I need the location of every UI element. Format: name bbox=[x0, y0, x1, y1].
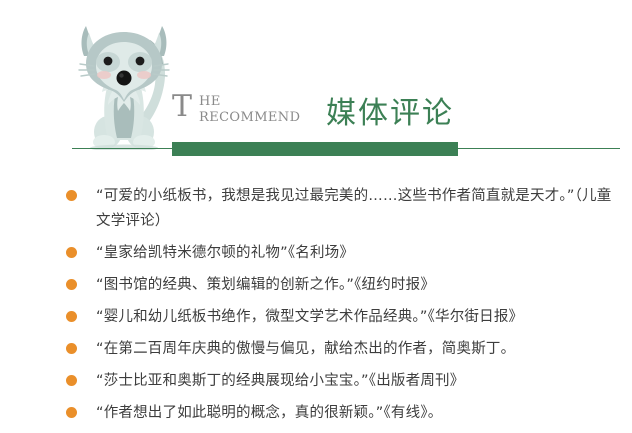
page-title: 媒体评论 bbox=[326, 96, 454, 132]
quote-text: “可爱的小纸板书，我想是我见过最完美的……这些书作者简直就是天才。”（儿童文学评… bbox=[96, 184, 620, 234]
list-item: “在第二百周年庆典的傲慢与偏见，献给杰出的作者，简奥斯丁。 bbox=[0, 337, 632, 362]
quote-text: “作者想出了如此聪明的概念，真的很新颖。”《有线》。 bbox=[96, 401, 442, 426]
quote-text: “图书馆的经典、策划编辑的创新之作。”《纽约时报》 bbox=[96, 273, 435, 298]
quote-text: “莎士比亚和奥斯丁的经典展现给小宝宝。”《出版者周刊》 bbox=[96, 369, 464, 394]
bullet-icon bbox=[66, 311, 77, 322]
bullet-icon bbox=[66, 190, 77, 201]
page-root: T HE RECOMMEND 媒体评论 “可爱的小纸板书，我想是我见过最完美的…… bbox=[0, 0, 632, 421]
list-item: “可爱的小纸板书，我想是我见过最完美的……这些书作者简直就是天才。”（儿童文学评… bbox=[0, 184, 632, 234]
bullet-icon bbox=[66, 247, 77, 258]
bullet-icon bbox=[66, 279, 77, 290]
quote-text: “在第二百周年庆典的傲慢与偏见，献给杰出的作者，简奥斯丁。 bbox=[96, 337, 515, 362]
list-item: “婴儿和幼儿纸板书绝作，微型文学艺术作品经典。”《华尔街日报》 bbox=[0, 305, 632, 330]
bullet-icon bbox=[66, 407, 77, 418]
bullet-icon bbox=[66, 343, 77, 354]
list-item: “图书馆的经典、策划编辑的创新之作。”《纽约时报》 bbox=[0, 273, 632, 298]
wordmark: T HE RECOMMEND bbox=[172, 92, 312, 138]
wordmark-initial: T bbox=[172, 92, 192, 122]
fox-illustration-icon bbox=[64, 12, 184, 150]
page-header: T HE RECOMMEND 媒体评论 bbox=[0, 0, 632, 160]
media-review-list: “可爱的小纸板书，我想是我见过最完美的……这些书作者简直就是天才。”（儿童文学评… bbox=[0, 184, 632, 433]
header-accent-bar bbox=[172, 142, 458, 156]
list-item: “莎士比亚和奥斯丁的经典展现给小宝宝。”《出版者周刊》 bbox=[0, 369, 632, 394]
list-item: “皇家给凯特米德尔顿的礼物”《名利场》 bbox=[0, 241, 632, 266]
wordmark-line1: HE bbox=[199, 95, 221, 109]
wordmark-line2: RECOMMEND bbox=[199, 111, 300, 125]
list-item: “作者想出了如此聪明的概念，真的很新颖。”《有线》。 bbox=[0, 401, 632, 426]
quote-text: “皇家给凯特米德尔顿的礼物”《名利场》 bbox=[96, 241, 354, 266]
quote-text: “婴儿和幼儿纸板书绝作，微型文学艺术作品经典。”《华尔街日报》 bbox=[96, 305, 523, 330]
bullet-icon bbox=[66, 375, 77, 386]
